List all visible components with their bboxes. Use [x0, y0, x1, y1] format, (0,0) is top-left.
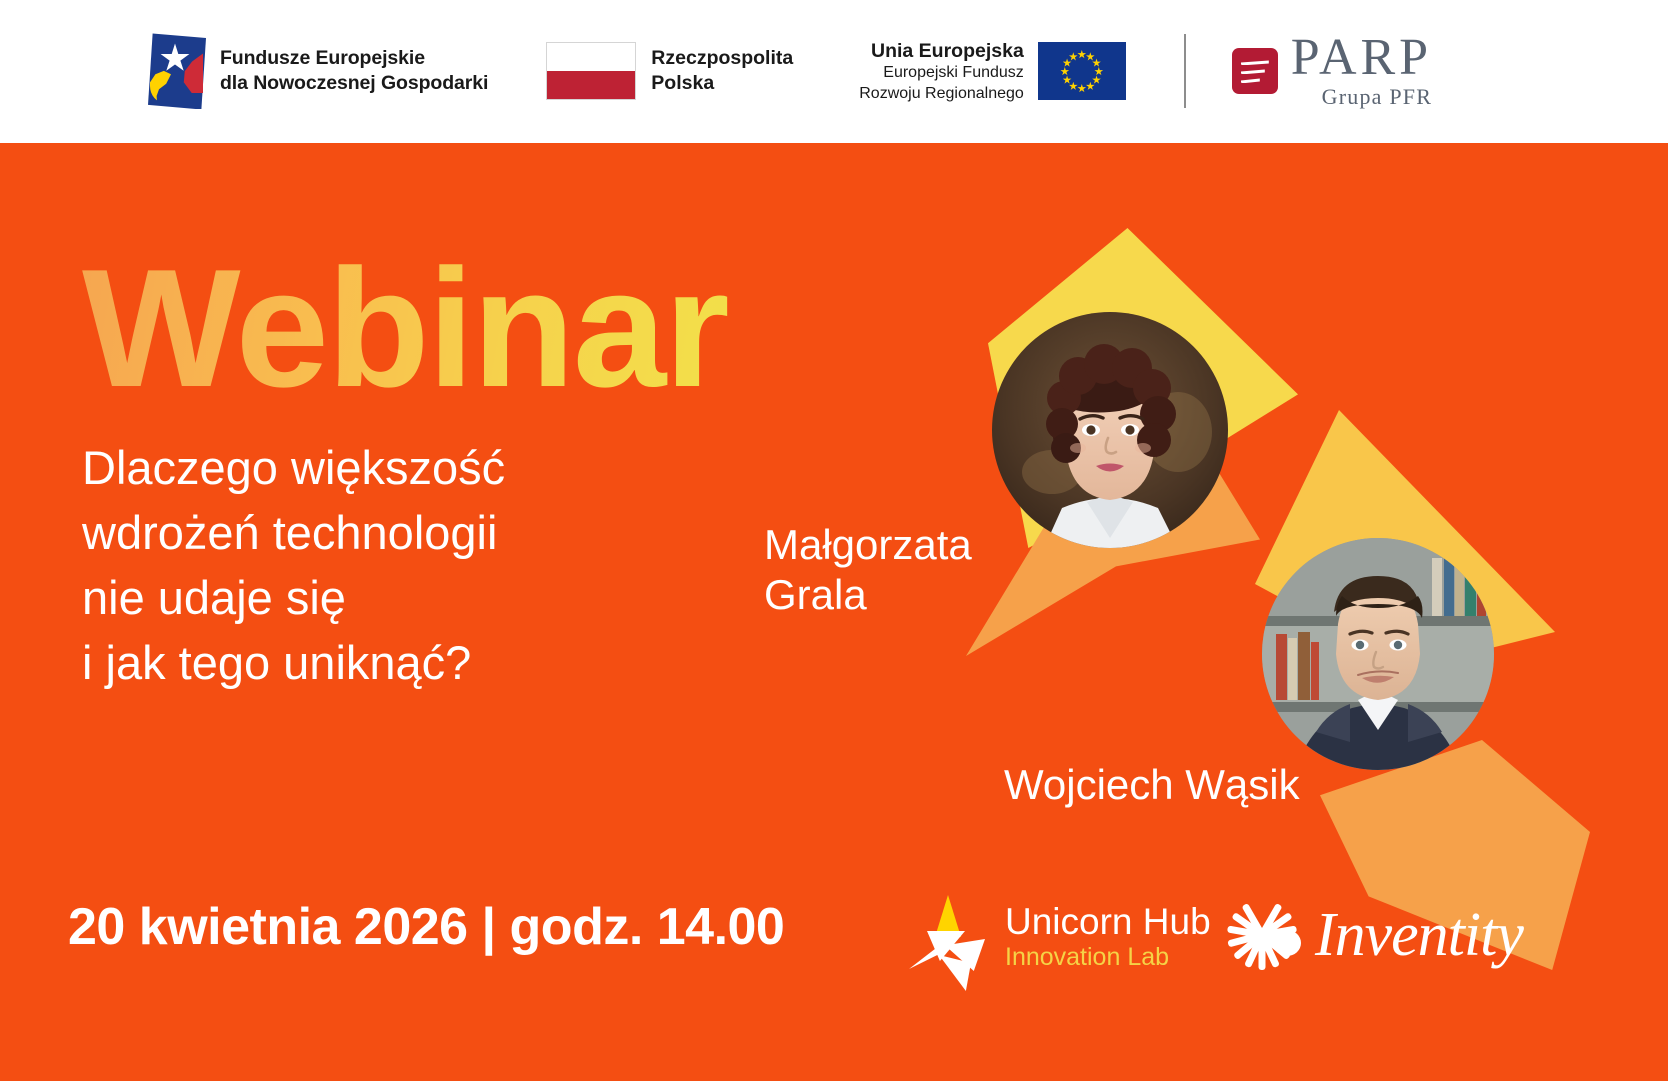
republic-line-1: Rzeczpospolita — [651, 46, 793, 72]
webinar-poster: Fundusze Europejskie dla Nowoczesnej Gos… — [0, 0, 1668, 1081]
unicorn-hub-name: Unicorn Hub — [1005, 902, 1211, 942]
inventity-name: Inventity — [1315, 900, 1523, 971]
funds-line-1: Fundusze Europejskie — [220, 46, 488, 72]
header-divider — [1184, 34, 1186, 108]
event-datetime: 20 kwietnia 2026 | godz. 14.00 — [68, 897, 784, 957]
unicorn-hub-tagline: Innovation Lab — [1005, 942, 1211, 972]
eu-line-1: Unia Europejska — [859, 39, 1024, 63]
funds-line-2: dla Nowoczesnej Gospodarki — [220, 71, 488, 97]
speaker-photo-1 — [992, 312, 1228, 548]
fundusze-europejskie-logo: Fundusze Europejskie dla Nowoczesnej Gos… — [148, 33, 488, 109]
parp-subtitle: Grupa PFR — [1291, 84, 1432, 110]
funding-logo-row: Fundusze Europejskie dla Nowoczesnej Gos… — [0, 33, 1432, 110]
eu-funding-header: Fundusze Europejskie dla Nowoczesnej Gos… — [0, 0, 1668, 143]
republic-line-2: Polska — [651, 71, 793, 97]
poland-flag-icon — [546, 42, 636, 100]
unicorn-hub-logo[interactable]: Unicorn Hub Innovation Lab — [905, 895, 1211, 979]
fundusze-europejskie-mark-icon — [148, 33, 206, 109]
speaker-name-1: Małgorzata Grala — [764, 520, 972, 619]
rzeczpospolita-text: Rzeczpospolita Polska — [651, 46, 793, 97]
eu-line-3: Rozwoju Regionalnego — [859, 84, 1024, 105]
parp-wordmark: PARP — [1291, 33, 1432, 82]
eu-text: Unia Europejska Europejski Fundusz Rozwo… — [859, 39, 1024, 105]
parp-logo: PARP Grupa PFR — [1232, 33, 1432, 110]
page-title: Webinar — [82, 244, 728, 412]
fundusze-europejskie-text: Fundusze Europejskie dla Nowoczesnej Gos… — [220, 46, 488, 97]
inventity-starburst-icon — [1225, 898, 1299, 972]
european-union-flag-icon — [1038, 42, 1126, 100]
unicorn-hub-logo-icon — [905, 895, 991, 979]
parp-logo-icon — [1232, 48, 1278, 94]
speaker-name-2: Wojciech Wąsik — [1004, 760, 1300, 810]
unia-europejska-logo: Unia Europejska Europejski Fundusz Rozwo… — [859, 39, 1126, 105]
page-subtitle: Dlaczego większość wdrożeń technologii n… — [82, 436, 722, 695]
eu-line-2: Europejski Fundusz — [859, 63, 1024, 84]
inventity-logo[interactable]: Inventity — [1225, 898, 1523, 972]
speaker-photo-2 — [1262, 538, 1494, 770]
unicorn-hub-text: Unicorn Hub Innovation Lab — [1005, 902, 1211, 972]
rzeczpospolita-polska-logo: Rzeczpospolita Polska — [546, 42, 793, 100]
